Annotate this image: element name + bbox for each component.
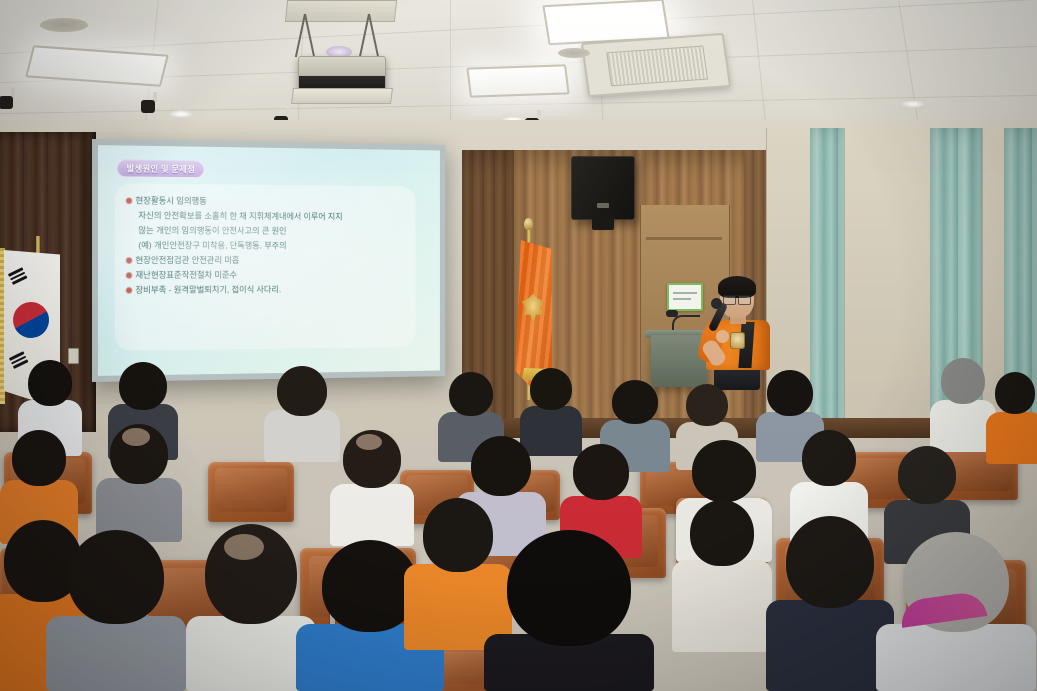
slide-sub-line: (예) 개인안전장구 미착용, 단독행동, 부주의 — [127, 238, 407, 253]
slide-body: 현장활동시 임의행동 자신의 안전확보를 소홀히 한 채 지휘체계내에서 이루어… — [115, 183, 416, 350]
projection-screen: 발생원인 및 문제점 현장활동시 임의행동 자신의 안전확보를 소홀히 한 채 … — [92, 139, 445, 382]
slide-bullet-line: 현장안전점검관 안전관리 미흡 — [127, 253, 407, 268]
track-spotlight — [150, 92, 160, 114]
slide-line-text: 현장안전점검관 안전관리 미흡 — [135, 253, 239, 268]
person-head — [995, 372, 1035, 414]
person-body — [264, 410, 340, 462]
ceiling-projector — [286, 0, 394, 98]
lecture-hall-screenshot: 발생원인 및 문제점 현장활동시 임의행동 자신의 안전확보를 소홀히 한 채 … — [0, 0, 1037, 691]
bullet-icon — [127, 288, 132, 293]
person-head — [507, 530, 631, 646]
ceiling-light-panel — [466, 64, 569, 97]
audience-member — [986, 372, 1037, 464]
flagpole-finial — [524, 218, 533, 230]
person-body — [986, 412, 1037, 464]
person-head — [277, 366, 327, 416]
person-body — [330, 484, 414, 546]
audience-member — [96, 424, 182, 542]
audience-member — [484, 530, 654, 691]
speaker-bracket — [592, 216, 614, 230]
person-head — [68, 530, 164, 624]
air-vent — [558, 48, 590, 58]
person-head — [12, 430, 66, 486]
person-body — [46, 616, 186, 691]
bullet-icon — [127, 258, 132, 263]
track-spotlight — [8, 88, 18, 110]
air-vent — [40, 18, 88, 32]
glasses-icon — [723, 295, 751, 303]
person-head — [449, 372, 493, 416]
person-head — [767, 370, 813, 416]
person-body — [766, 600, 894, 691]
person-head — [530, 368, 572, 410]
person-head — [28, 360, 72, 406]
audience-member — [46, 530, 186, 691]
person-body — [876, 624, 1036, 691]
scalp-highlight — [356, 434, 382, 450]
slide-line-text: 장비부족 - 원격말벌퇴치기, 접이식 사다리. — [135, 282, 281, 297]
person-head — [612, 380, 658, 424]
slide-line-text: 재난현장표준작전절차 미준수 — [135, 268, 237, 283]
ac-cassette-unit — [581, 33, 731, 97]
audience-member — [330, 430, 414, 546]
person-head — [423, 498, 493, 572]
notice-sign — [667, 283, 703, 311]
person-head — [573, 444, 629, 500]
audience-member — [264, 366, 340, 462]
scalp-highlight — [224, 534, 264, 560]
slide-line-text: 않는 개인의 임의행동이 안전사고의 큰 원인 — [138, 223, 286, 238]
person-head — [941, 358, 985, 404]
slide-line-text: 현장활동시 임의행동 — [135, 193, 206, 208]
slide-bullet-line: 재난현장표준작전절차 미준수 — [127, 268, 407, 283]
person-head — [898, 446, 956, 504]
wall-panel — [844, 128, 932, 428]
person-head — [802, 430, 856, 486]
microphone-head-icon — [666, 310, 678, 317]
slide-sub-line: 않는 개인의 임의행동이 안전사고의 큰 원인 — [127, 223, 407, 239]
slide-surface: 발생원인 및 문제점 현장활동시 임의행동 자신의 안전확보를 소홀히 한 채 … — [98, 145, 440, 376]
auditorium-seat — [208, 462, 294, 522]
door-rail — [646, 237, 722, 240]
audience-member — [766, 516, 894, 691]
audience-member — [672, 500, 772, 652]
taeguk-symbol — [7, 296, 56, 345]
person-head — [786, 516, 874, 608]
wall-speaker — [571, 156, 635, 220]
recessed-downlight — [900, 100, 926, 108]
person-head — [471, 436, 531, 496]
scalp-highlight — [122, 428, 150, 446]
slide-bullet-line: 장비부족 - 원격말벌퇴치기, 접이식 사다리. — [127, 282, 407, 298]
uniform-patch-icon — [730, 332, 745, 349]
bullet-icon — [127, 198, 132, 203]
slide-title-badge: 발생원인 및 문제점 — [117, 159, 205, 178]
person-head — [119, 362, 167, 410]
bullet-icon — [127, 273, 132, 278]
trigram-geon — [8, 267, 28, 286]
person-head — [692, 440, 756, 502]
slide-line-text: (예) 개인안전장구 미착용, 단독행동, 부주의 — [138, 238, 286, 253]
person-body — [672, 560, 772, 652]
recessed-downlight — [168, 110, 194, 118]
person-head — [690, 500, 754, 566]
person-head — [686, 384, 728, 426]
slide-line-text: 자신의 안전확보를 소홀히 한 채 지휘체계내에서 이루어 지지 — [138, 208, 342, 224]
slide-sub-line: 자신의 안전확보를 소홀히 한 채 지휘체계내에서 이루어 지지 — [127, 208, 407, 224]
